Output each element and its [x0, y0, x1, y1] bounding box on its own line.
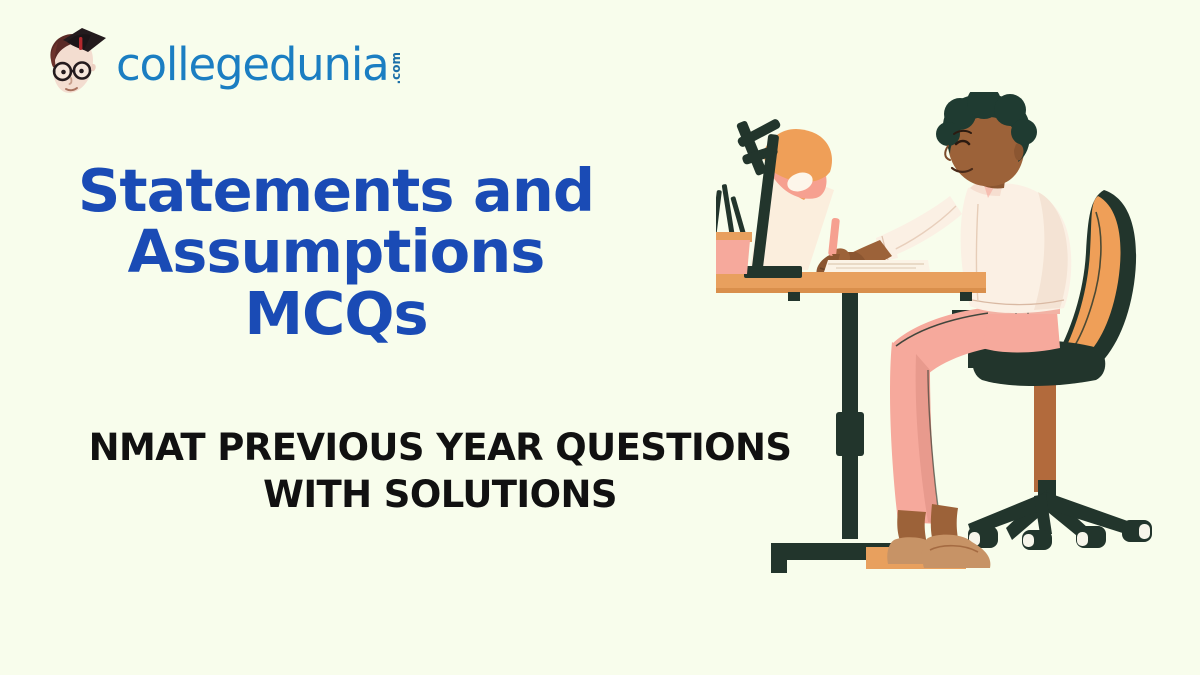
paper-sheet-icon	[824, 260, 930, 272]
page-title-line-1: Statements and	[0, 160, 672, 221]
page-title-line-3: MCQs	[0, 283, 672, 344]
person-head	[936, 92, 1037, 189]
site-logo[interactable]: collegedunia .com	[36, 26, 402, 102]
mascot-icon	[36, 26, 110, 102]
office-chair-base-icon	[968, 374, 1152, 550]
page-title-line-2: Assumptions	[0, 221, 672, 282]
logo-dotcom-text: .com	[390, 52, 402, 84]
desk-lamp-icon	[736, 118, 834, 278]
poster-canvas: collegedunia .com Statements and Assumpt…	[0, 0, 1200, 675]
logo-text: collegedunia	[116, 42, 389, 87]
pencil-cup-icon	[716, 184, 752, 274]
student-studying-at-desk-illustration	[716, 92, 1200, 582]
page-title: Statements and Assumptions MCQs	[0, 160, 672, 344]
logo-wordmark: collegedunia .com	[116, 42, 402, 87]
person-torso	[876, 183, 1071, 313]
